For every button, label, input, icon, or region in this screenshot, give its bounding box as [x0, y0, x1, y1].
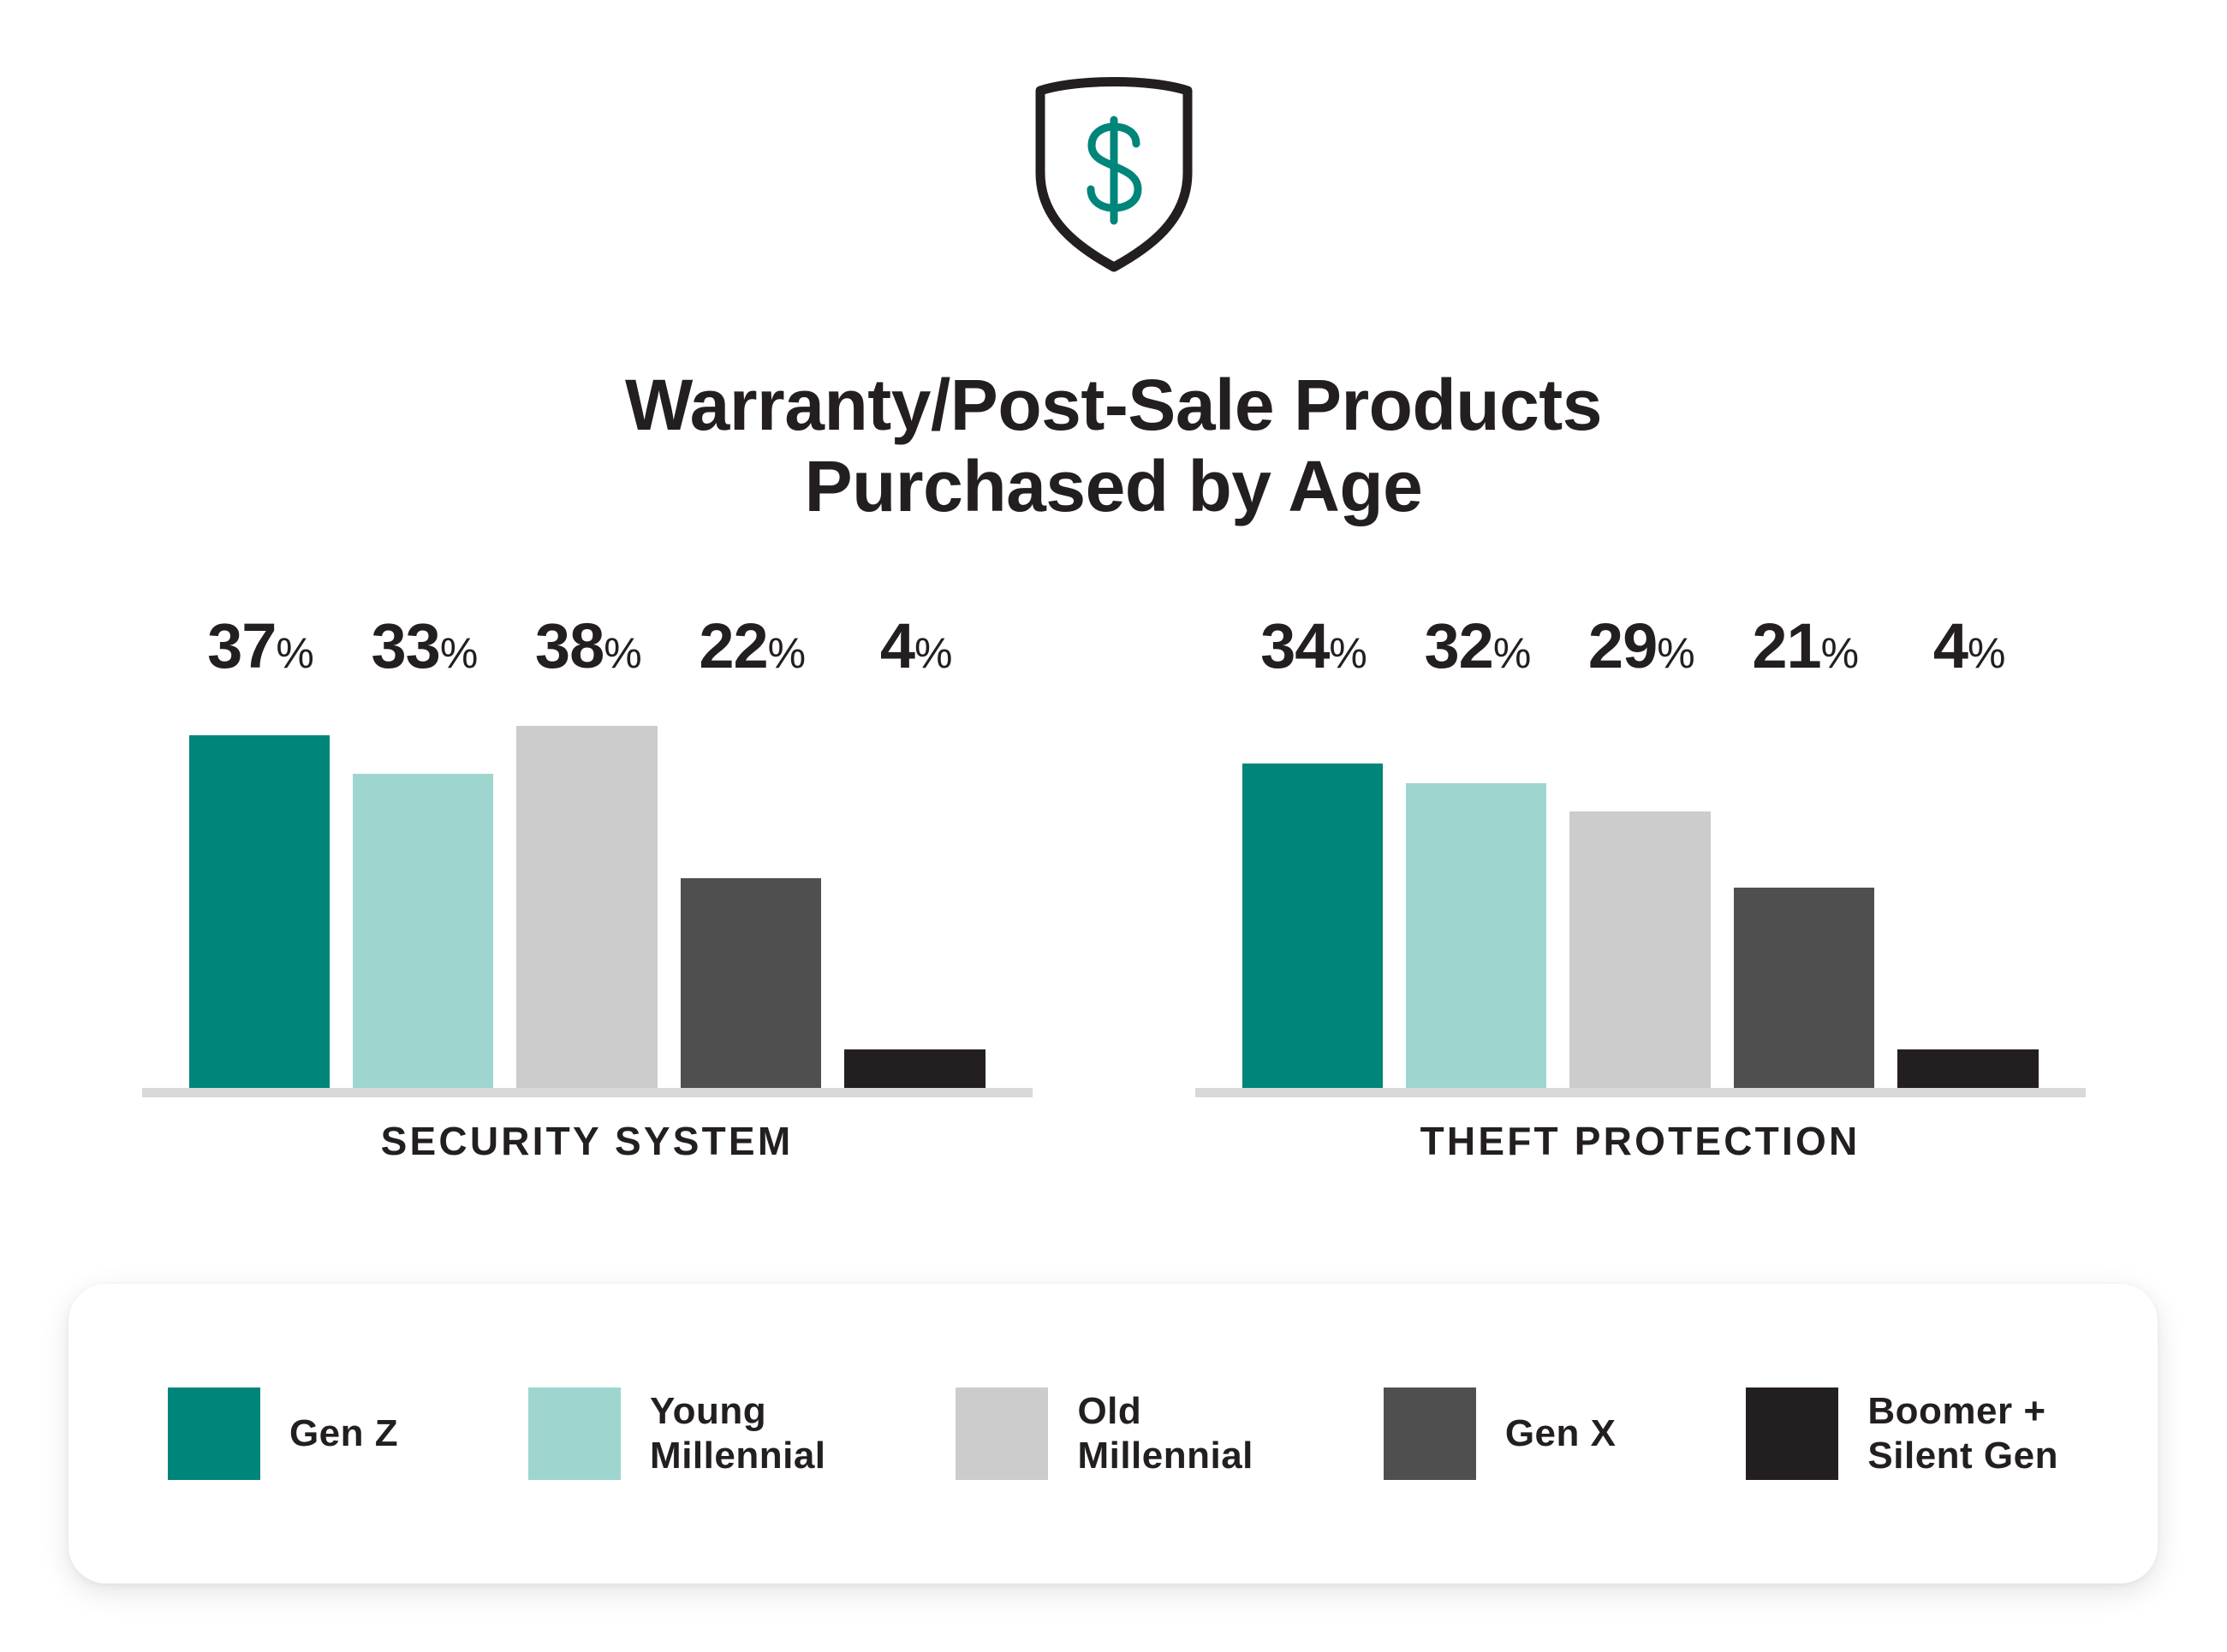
- bar-value-label: 37%: [189, 615, 333, 686]
- chart-baseline: [142, 1088, 1033, 1097]
- bar-column: 21%: [1734, 686, 1874, 1089]
- bar-value-unit: %: [1329, 629, 1367, 677]
- chart-category-label: THEFT PROTECTION: [1195, 1118, 2086, 1164]
- bar-value-unit: %: [1657, 629, 1694, 677]
- bar-value-label: 38%: [516, 615, 660, 686]
- bar-value-label: 33%: [353, 615, 497, 686]
- bar-value-number: 29: [1588, 610, 1657, 681]
- chart-security-system: 37% 33% 38% 22%: [142, 616, 1033, 1164]
- bar-value-label: 32%: [1406, 615, 1550, 686]
- bar-value-label: 21%: [1734, 615, 1878, 686]
- bar-value-unit: %: [1493, 629, 1531, 677]
- bar-column: 4%: [1897, 686, 2038, 1089]
- bar-value-number: 22: [699, 610, 767, 681]
- bar-young-millennial: [353, 774, 493, 1089]
- bar-value-number: 4: [1933, 610, 1968, 681]
- bar-value-unit: %: [276, 629, 313, 677]
- legend-swatch-gen-z: [168, 1388, 260, 1480]
- bar-value-unit: %: [440, 629, 478, 677]
- chart-category-label: SECURITY SYSTEM: [142, 1118, 1033, 1164]
- bar-young-millennial: [1406, 783, 1546, 1089]
- legend-card: Gen Z Young Millennial Old Millennial Ge…: [68, 1284, 2158, 1584]
- bar-value-unit: %: [604, 629, 641, 677]
- bar-value-unit: %: [914, 629, 952, 677]
- chart-plot-area: 37% 33% 38% 22%: [189, 686, 985, 1089]
- shield-dollar-icon: [1028, 77, 1200, 274]
- page-title-line-2: Purchased by Age: [0, 446, 2227, 527]
- bar-column: 38%: [516, 686, 657, 1089]
- bar-gen-z: [189, 735, 330, 1089]
- bar-column: 37%: [189, 686, 330, 1089]
- bar-value-label: 29%: [1569, 615, 1713, 686]
- legend-swatch-boomer-silent-gen: [1746, 1388, 1838, 1480]
- bar-value-label: 4%: [844, 615, 988, 686]
- page-title: Warranty/Post-Sale Products Purchased by…: [0, 365, 2227, 527]
- bar-old-millennial: [1569, 811, 1710, 1089]
- bar-value-number: 21: [1752, 610, 1820, 681]
- header-icon-container: [0, 77, 2227, 274]
- bar-column: 4%: [844, 686, 985, 1089]
- legend-item-young-millennial: Young Millennial: [528, 1388, 825, 1480]
- bar-column: 29%: [1569, 686, 1710, 1089]
- legend-swatch-young-millennial: [528, 1388, 621, 1480]
- bar-value-unit: %: [768, 629, 806, 677]
- bar-gen-x: [681, 878, 821, 1089]
- chart-baseline: [1195, 1088, 2086, 1097]
- bar-value-number: 38: [535, 610, 604, 681]
- bar-value-number: 32: [1425, 610, 1493, 681]
- legend-item-gen-z: Gen Z: [168, 1388, 398, 1480]
- bar-gen-x: [1734, 888, 1874, 1089]
- page-title-line-1: Warranty/Post-Sale Products: [0, 365, 2227, 446]
- legend-label-young-millennial: Young Millennial: [650, 1389, 825, 1478]
- bar-value-label: 34%: [1242, 615, 1386, 686]
- legend-label-gen-x: Gen X: [1505, 1411, 1617, 1456]
- bar-old-millennial: [516, 726, 657, 1089]
- bar-value-number: 34: [1260, 610, 1329, 681]
- chart-plot-area: 34% 32% 29% 21%: [1242, 686, 2039, 1089]
- bar-column: 33%: [353, 686, 493, 1089]
- chart-theft-protection: 34% 32% 29% 21%: [1195, 616, 2086, 1164]
- legend-item-boomer-silent-gen: Boomer + Silent Gen: [1746, 1388, 2058, 1480]
- bar-column: 32%: [1406, 686, 1546, 1089]
- bar-value-unit: %: [1968, 629, 2005, 677]
- bar-boomer-silent-gen: [844, 1049, 985, 1089]
- bar-value-unit: %: [1821, 629, 1859, 677]
- bar-column: 34%: [1242, 686, 1383, 1089]
- bar-value-number: 33: [372, 610, 440, 681]
- legend-item-gen-x: Gen X: [1384, 1388, 1617, 1480]
- bar-value-label: 4%: [1897, 615, 2041, 686]
- bar-gen-z: [1242, 764, 1383, 1089]
- legend-item-old-millennial: Old Millennial: [956, 1388, 1253, 1480]
- bar-value-number: 4: [880, 610, 914, 681]
- legend-swatch-gen-x: [1384, 1388, 1476, 1480]
- bar-boomer-silent-gen: [1897, 1049, 2038, 1089]
- legend-label-old-millennial: Old Millennial: [1077, 1389, 1253, 1478]
- bar-value-number: 37: [207, 610, 276, 681]
- charts-container: 37% 33% 38% 22%: [0, 616, 2227, 1164]
- legend-swatch-old-millennial: [956, 1388, 1048, 1480]
- legend-label-boomer-silent-gen: Boomer + Silent Gen: [1867, 1389, 2058, 1478]
- legend-label-gen-z: Gen Z: [289, 1411, 398, 1456]
- bar-column: 22%: [681, 686, 821, 1089]
- bar-value-label: 22%: [681, 615, 825, 686]
